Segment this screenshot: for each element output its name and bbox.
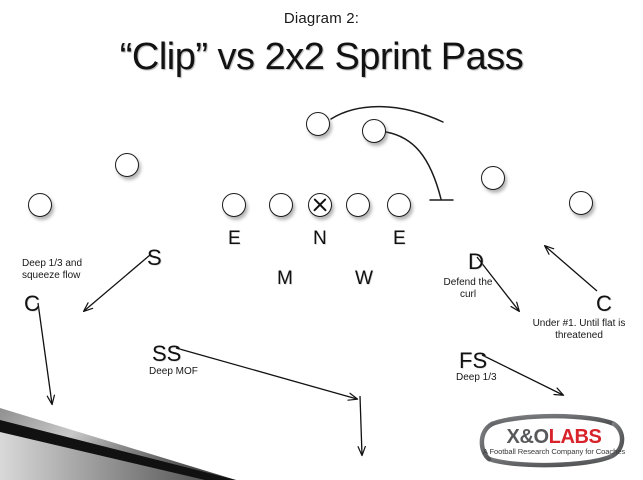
note-corner-left: Deep 1/3 and squeeze flow [22,258,82,282]
label-will: W [355,268,373,290]
player-ol-left-guard [269,193,293,217]
player-ol-left-tackle [222,193,246,217]
note-strong-safety-mof: Deep MOF [149,366,198,378]
player-wr-right-outside [569,191,593,215]
label-dropper-curl: D [468,249,484,275]
strong-safety-mof-arrow [176,348,357,399]
label-mike: M [277,268,293,290]
brand-logo: X&OLABS A Football Research Company for … [478,420,630,466]
qb-sprint-route [331,107,443,122]
note-dropper-curl: Defend the curl [430,277,506,301]
player-wr-right-slot [481,166,505,190]
label-corner-left: C [24,291,40,317]
label-strong-safety-mof: SS [152,341,181,367]
rb-stick-route [386,132,441,199]
label-free-safety: FS [459,348,487,374]
player-wr-left-outside [28,193,52,217]
strong-safety-rotation-arrow [84,255,150,311]
player-ol-center [308,193,332,217]
player-ol-right-tackle [387,193,411,217]
label-corner-right: C [596,291,612,317]
label-end-left: E [228,228,241,250]
diagram-slide: Diagram 2: “Clip” vs 2x2 Sprint Pass [0,0,643,480]
corner-decoration [0,408,236,480]
note-corner-right: Under #1. Until flat is threatened [516,318,642,342]
logo-tagline: A Football Research Company for Coaches [478,447,630,456]
strong-safety-mof-arrow-tail [360,396,362,455]
label-end-right: E [393,228,406,250]
logo-wordmark: X&OLABS [478,426,630,449]
corner-right-arrow [545,246,597,291]
corner-left-arrow [38,303,52,404]
label-nose: N [313,228,327,250]
player-running-back [362,119,386,143]
player-quarterback [306,112,330,136]
player-ol-right-guard [346,193,370,217]
label-strong-safety-rotation: S [147,245,162,271]
player-wr-left-slot [115,153,139,177]
logo-xo-text: X&O [507,426,549,448]
note-free-safety: Deep 1/3 [456,372,497,384]
logo-labs-text: LABS [549,426,602,448]
